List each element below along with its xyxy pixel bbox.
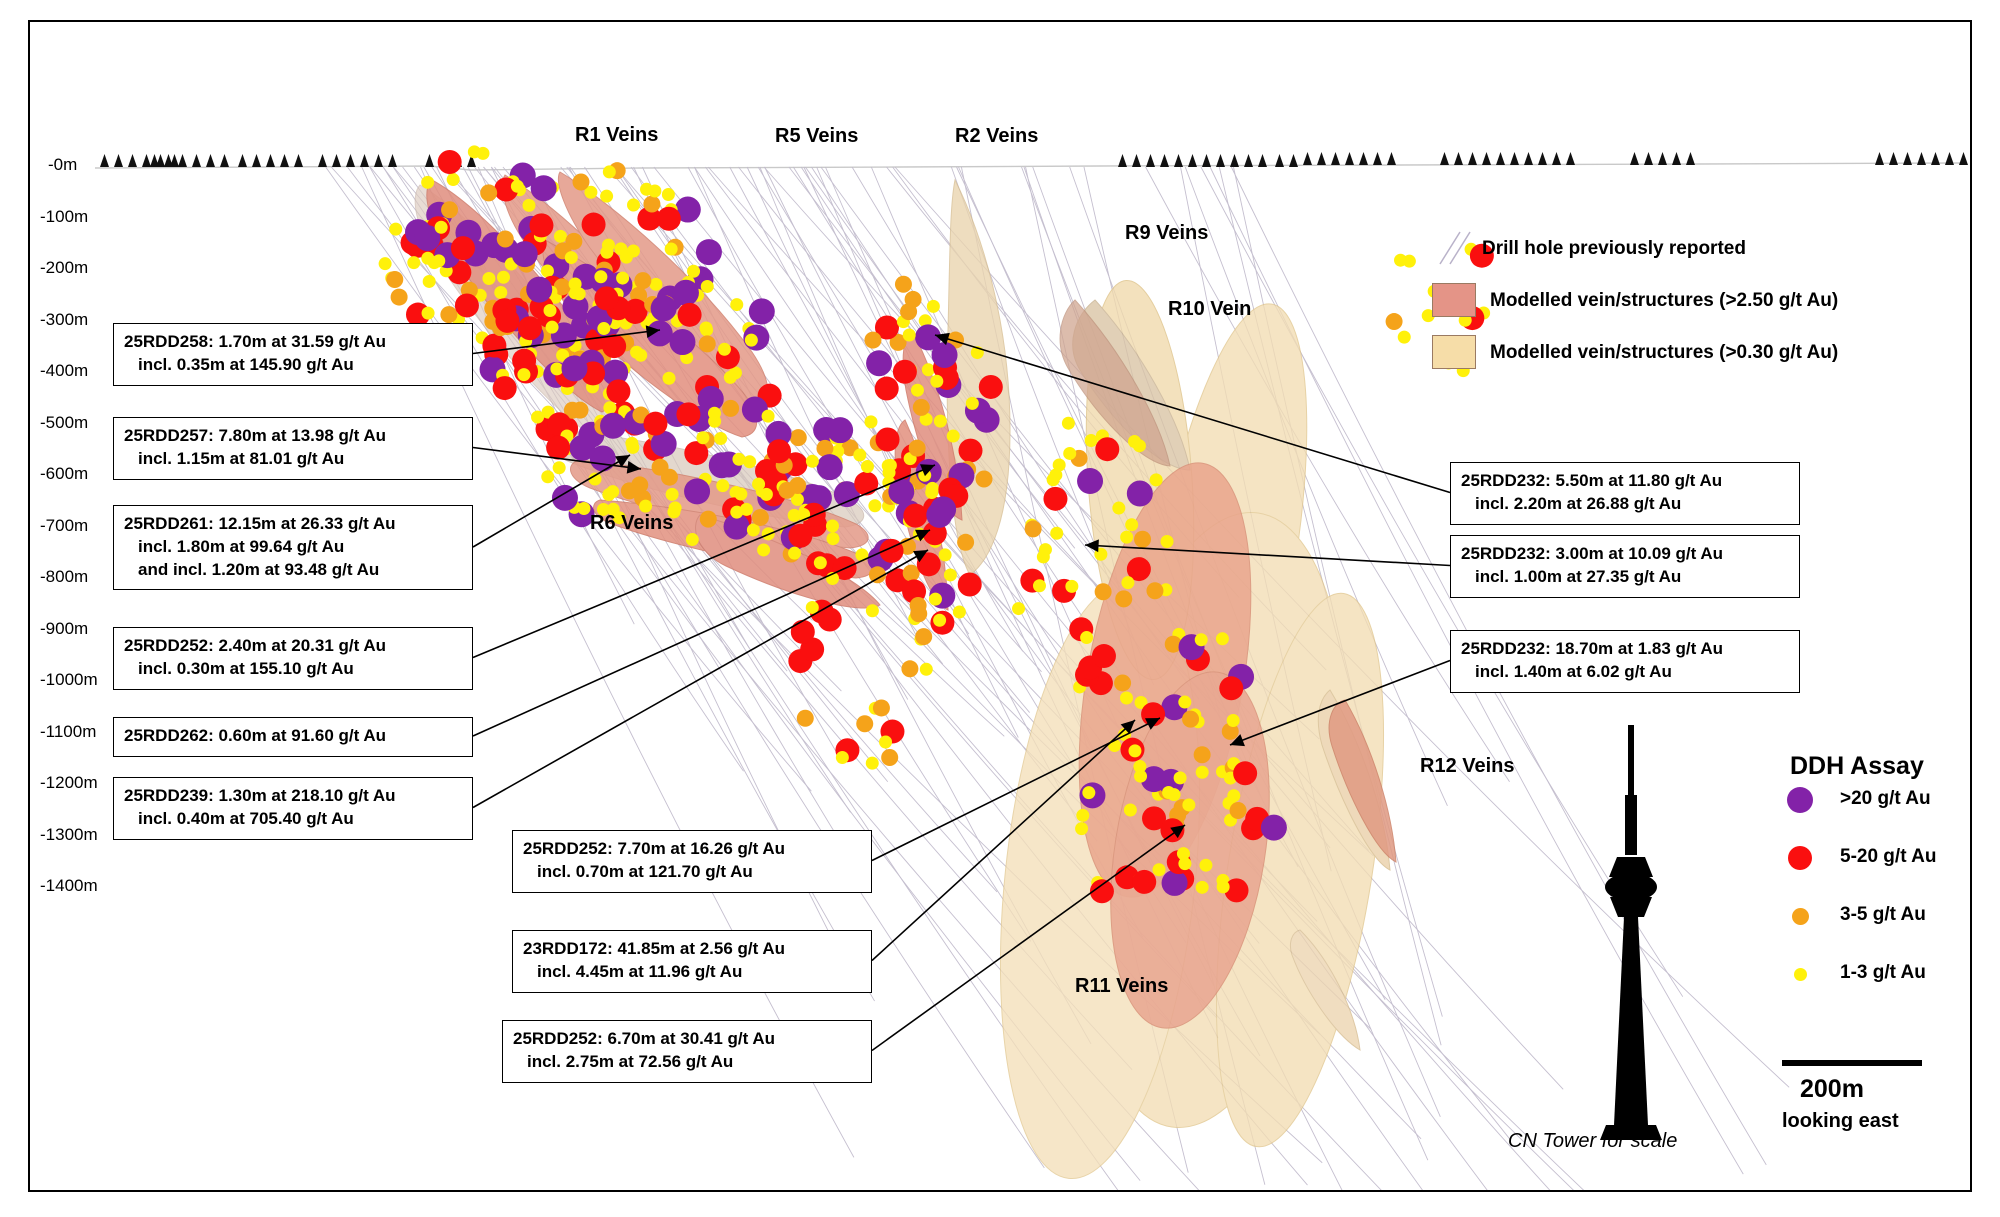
assay-dot bbox=[522, 199, 535, 212]
assay-dot bbox=[700, 321, 713, 334]
assay-dot bbox=[778, 482, 795, 499]
cross-section-figure: -0m-100m-200m-300m-400m-500m-600m-700m-8… bbox=[0, 0, 2000, 1217]
assay-dot bbox=[569, 277, 582, 290]
assay-dot bbox=[600, 190, 613, 203]
assay-dot bbox=[975, 470, 992, 487]
assay-dot bbox=[910, 605, 927, 622]
assay-dot bbox=[788, 524, 812, 548]
callout-line: 25RDD252: 2.40m at 20.31 g/t Au bbox=[124, 635, 462, 658]
vein-label: R9 Veins bbox=[1125, 222, 1208, 245]
assay-dot bbox=[966, 397, 979, 410]
assay-dot bbox=[767, 439, 791, 463]
assay-dot bbox=[482, 334, 506, 358]
assay-dot bbox=[901, 660, 918, 677]
geology-canvas bbox=[0, 0, 2000, 1217]
assay-dot bbox=[1133, 760, 1146, 773]
assay-dot bbox=[391, 289, 408, 306]
assay-dot bbox=[797, 710, 814, 727]
assay-dot bbox=[625, 437, 638, 450]
depth-tick-label: -1100m bbox=[40, 722, 96, 742]
assay-dot bbox=[740, 503, 753, 516]
assay-dot bbox=[422, 307, 435, 320]
drill-hole-legend-icon bbox=[1432, 228, 1478, 268]
tree-icon bbox=[252, 154, 261, 167]
assay-dot bbox=[447, 173, 460, 186]
tree-icon bbox=[220, 154, 229, 167]
assay-dot bbox=[546, 321, 559, 334]
assay-dot bbox=[1178, 696, 1191, 709]
assay-dot bbox=[561, 355, 587, 381]
assay-dot bbox=[662, 188, 675, 201]
assay-dot bbox=[903, 504, 927, 528]
assay-dot bbox=[666, 488, 679, 501]
assay-dot bbox=[652, 459, 669, 476]
assay-dot bbox=[665, 242, 678, 255]
assay-callout: 25RDD252: 7.70m at 16.26 g/t Auincl. 0.7… bbox=[512, 830, 872, 893]
depth-tick-label: -400m bbox=[40, 361, 88, 381]
callout-line: 25RDD258: 1.70m at 31.59 g/t Au bbox=[124, 331, 462, 354]
assay-dot bbox=[1233, 761, 1257, 785]
assay-dot bbox=[1386, 313, 1403, 330]
assay-dot bbox=[696, 431, 709, 444]
assay-dot bbox=[749, 298, 775, 324]
assay-legend-label: 1-3 g/t Au bbox=[1840, 962, 1926, 984]
assay-dot bbox=[546, 436, 570, 460]
assay-dot bbox=[541, 265, 554, 278]
assay-dot bbox=[687, 265, 700, 278]
tree-icon bbox=[1387, 152, 1396, 165]
assay-dot bbox=[669, 329, 695, 355]
assay-dot bbox=[1261, 815, 1287, 841]
legend-vein-low-label: Modelled vein/structures (>0.30 g/t Au) bbox=[1490, 342, 1838, 364]
tree-icon bbox=[1959, 152, 1968, 165]
callout-line: incl. 0.40m at 705.40 g/t Au bbox=[124, 808, 462, 831]
tree-icon bbox=[1510, 152, 1519, 165]
assay-dot bbox=[913, 399, 930, 416]
assay-callout: 25RDD261: 12.15m at 26.33 g/t Auincl. 1.… bbox=[113, 505, 473, 590]
assay-dot bbox=[752, 478, 765, 491]
assay-dot bbox=[1047, 473, 1060, 486]
tree-icon bbox=[1658, 152, 1667, 165]
ddh-assay-title: DDH Assay bbox=[1790, 752, 1924, 781]
tree-icon bbox=[100, 154, 109, 167]
assay-dot bbox=[616, 272, 629, 285]
tree-icon bbox=[1630, 152, 1639, 165]
depth-tick-label: -1400m bbox=[40, 876, 98, 896]
assay-dot bbox=[594, 286, 618, 310]
assay-dot bbox=[958, 572, 982, 596]
assay-dot bbox=[701, 280, 714, 293]
assay-dot bbox=[550, 362, 563, 375]
assay-dot bbox=[1217, 880, 1230, 893]
assay-dot bbox=[1063, 447, 1076, 460]
assay-dot bbox=[1039, 543, 1052, 556]
assay-dot bbox=[930, 375, 943, 388]
assay-dot bbox=[903, 329, 916, 342]
tree-icon bbox=[206, 154, 215, 167]
assay-dot bbox=[957, 534, 974, 551]
assay-dot bbox=[1053, 459, 1066, 472]
assay-dot bbox=[541, 470, 554, 483]
callout-line: 25RDD252: 7.70m at 16.26 g/t Au bbox=[523, 838, 861, 861]
assay-dot bbox=[1128, 744, 1141, 757]
depth-tick-label: -1200m bbox=[40, 773, 98, 793]
assay-dot bbox=[876, 427, 900, 451]
callout-line: incl. 0.35m at 145.90 g/t Au bbox=[124, 354, 462, 377]
assay-dot bbox=[512, 241, 538, 267]
callout-line: incl. 0.70m at 121.70 g/t Au bbox=[523, 861, 861, 884]
assay-dot bbox=[602, 488, 615, 501]
tree-icon bbox=[374, 154, 383, 167]
assay-dot bbox=[544, 304, 557, 317]
assay-dot bbox=[922, 363, 935, 376]
assay-dot bbox=[1062, 417, 1075, 430]
legend-swatch-high-grade bbox=[1432, 283, 1476, 317]
assay-dot bbox=[790, 429, 807, 446]
assay-dot bbox=[893, 360, 917, 384]
assay-dot bbox=[1125, 518, 1138, 531]
assay-dot bbox=[853, 449, 866, 462]
assay-dot bbox=[389, 223, 402, 236]
vein-label: R1 Veins bbox=[575, 124, 658, 147]
assay-legend-dot bbox=[1794, 968, 1807, 981]
assay-dot bbox=[565, 233, 582, 250]
assay-dot bbox=[1134, 531, 1151, 548]
assay-dot bbox=[1216, 632, 1229, 645]
tree-icon bbox=[1454, 152, 1463, 165]
callout-line: 25RDD232: 18.70m at 1.83 g/t Au bbox=[1461, 638, 1789, 661]
assay-dot bbox=[600, 246, 613, 259]
legend-drill-hole-label: Drill hole previously reported bbox=[1482, 238, 1746, 260]
assay-callout: 25RDD239: 1.30m at 218.10 g/t Auincl. 0.… bbox=[113, 777, 473, 840]
assay-dot bbox=[836, 751, 849, 764]
assay-dot bbox=[722, 400, 739, 417]
tree-icon bbox=[1917, 152, 1926, 165]
assay-dot bbox=[895, 276, 912, 293]
assay-dot bbox=[553, 461, 566, 474]
cn-tower-caption: CN Tower for scale bbox=[1508, 1130, 1677, 1153]
assay-dot bbox=[1114, 674, 1131, 691]
assay-legend-label: 5-20 g/t Au bbox=[1840, 846, 1936, 868]
depth-tick-label: -700m bbox=[40, 516, 88, 536]
assay-dot bbox=[597, 322, 610, 335]
assay-dot bbox=[817, 454, 843, 480]
assay-dot bbox=[493, 376, 517, 400]
tree-icon bbox=[1889, 152, 1898, 165]
assay-dot bbox=[814, 556, 827, 569]
assay-dot bbox=[1115, 590, 1132, 607]
assay-dot bbox=[1050, 527, 1063, 540]
assay-dot bbox=[565, 251, 578, 264]
assay-dot bbox=[602, 334, 626, 358]
assay-dot bbox=[1194, 746, 1211, 763]
tree-icon bbox=[1359, 152, 1368, 165]
assay-dot bbox=[699, 335, 716, 352]
legend-vein-high-label: Modelled vein/structures (>2.50 g/t Au) bbox=[1490, 290, 1838, 312]
assay-dot bbox=[696, 239, 722, 265]
assay-dot bbox=[1121, 576, 1134, 589]
assay-legend-label: >20 g/t Au bbox=[1840, 788, 1931, 810]
assay-dot bbox=[1095, 583, 1112, 600]
callout-line: incl. 1.40m at 6.02 g/t Au bbox=[1461, 661, 1789, 684]
assay-dot bbox=[875, 377, 899, 401]
vein-label: R6 Veins bbox=[590, 512, 673, 535]
vein-label: R5 Veins bbox=[775, 125, 858, 148]
assay-dot bbox=[643, 196, 660, 213]
assay-dot bbox=[929, 593, 942, 606]
assay-dot bbox=[979, 375, 1003, 399]
callout-line: incl. 1.80m at 99.64 g/t Au bbox=[124, 536, 462, 559]
assay-dot bbox=[959, 439, 983, 463]
assay-dot bbox=[663, 372, 676, 385]
callout-line: incl. 1.00m at 27.35 g/t Au bbox=[1461, 566, 1789, 589]
assay-dot bbox=[752, 509, 769, 526]
assay-dot bbox=[1174, 771, 1187, 784]
assay-dot bbox=[603, 401, 616, 414]
tree-icon bbox=[1160, 154, 1169, 167]
tree-icon bbox=[128, 154, 137, 167]
assay-dot bbox=[526, 277, 552, 303]
assay-dot bbox=[603, 165, 616, 178]
assay-dot bbox=[947, 430, 960, 443]
assay-dot bbox=[866, 604, 879, 617]
assay-dot bbox=[757, 543, 770, 556]
assay-dot bbox=[932, 342, 958, 368]
assay-dot bbox=[686, 533, 699, 546]
assay-legend-label: 3-5 g/t Au bbox=[1840, 904, 1926, 926]
assay-callout: 25RDD258: 1.70m at 31.59 g/t Auincl. 0.3… bbox=[113, 323, 473, 386]
tree-icon bbox=[332, 154, 341, 167]
assay-dot bbox=[1085, 434, 1098, 447]
tree-icon bbox=[1496, 152, 1505, 165]
assay-dot bbox=[1162, 870, 1188, 896]
assay-dot bbox=[915, 628, 932, 645]
callout-line: incl. 1.15m at 81.01 g/t Au bbox=[124, 448, 462, 471]
tree-icon bbox=[1202, 154, 1211, 167]
tree-icon bbox=[114, 154, 123, 167]
tree-icon bbox=[1931, 152, 1940, 165]
assay-dot bbox=[762, 410, 775, 423]
tree-icon bbox=[1230, 154, 1239, 167]
tree-icon bbox=[164, 154, 173, 167]
assay-dot bbox=[788, 547, 801, 560]
callout-line: 25RDD232: 3.00m at 10.09 g/t Au bbox=[1461, 543, 1789, 566]
tree-icon bbox=[1566, 152, 1575, 165]
callout-line: incl. 2.75m at 72.56 g/t Au bbox=[513, 1051, 861, 1074]
depth-tick-label: -1300m bbox=[40, 825, 98, 845]
depth-tick-label: -0m bbox=[48, 155, 77, 175]
assay-dot bbox=[440, 306, 457, 323]
tree-icon bbox=[1188, 154, 1197, 167]
tree-icon bbox=[1686, 152, 1695, 165]
tree-icon bbox=[1482, 152, 1491, 165]
assay-dot bbox=[1076, 809, 1089, 822]
tree-icon bbox=[294, 154, 303, 167]
assay-dot bbox=[718, 343, 731, 356]
callout-line: 25RDD239: 1.30m at 218.10 g/t Au bbox=[124, 785, 462, 808]
assay-dot bbox=[627, 244, 640, 257]
assay-dot bbox=[1227, 714, 1240, 727]
assay-dot bbox=[531, 175, 557, 201]
assay-dot bbox=[745, 334, 758, 347]
assay-dot bbox=[791, 620, 815, 644]
assay-dot bbox=[868, 499, 881, 512]
assay-dot bbox=[854, 472, 878, 496]
assay-dot bbox=[708, 407, 721, 420]
assay-dot bbox=[856, 715, 873, 732]
assay-dot bbox=[1227, 789, 1240, 802]
callout-line: 25RDD262: 0.60m at 91.60 g/t Au bbox=[124, 725, 462, 748]
assay-dot bbox=[1025, 520, 1042, 537]
assay-callout: 23RDD172: 41.85m at 2.56 g/t Auincl. 4.4… bbox=[512, 930, 872, 993]
assay-dot bbox=[407, 256, 420, 269]
tree-icon bbox=[178, 154, 187, 167]
depth-tick-label: -800m bbox=[40, 567, 88, 587]
assay-dot bbox=[435, 221, 448, 234]
assay-dot bbox=[438, 150, 462, 174]
assay-dot bbox=[1153, 863, 1166, 876]
tree-icon bbox=[150, 154, 159, 167]
tree-icon bbox=[1373, 152, 1382, 165]
assay-dot bbox=[577, 502, 590, 515]
assay-dot bbox=[1196, 881, 1209, 894]
assay-dot bbox=[866, 757, 879, 770]
assay-dot bbox=[497, 231, 514, 248]
assay-dot bbox=[432, 254, 445, 267]
callout-line: incl. 4.45m at 11.96 g/t Au bbox=[523, 961, 861, 984]
assay-dot bbox=[1177, 847, 1190, 860]
assay-dot bbox=[826, 532, 839, 545]
assay-dot bbox=[953, 605, 966, 618]
assay-dot bbox=[673, 280, 699, 306]
tree-icon bbox=[1468, 152, 1477, 165]
tree-icon bbox=[1875, 152, 1884, 165]
assay-dot bbox=[676, 402, 700, 426]
assay-dot bbox=[554, 230, 567, 243]
assay-callout: 25RDD252: 2.40m at 20.31 g/t Auincl. 0.3… bbox=[113, 627, 473, 690]
callout-line: and incl. 1.20m at 93.48 g/t Au bbox=[124, 559, 462, 582]
assay-dot bbox=[939, 548, 952, 561]
assay-callout: 25RDD262: 0.60m at 91.60 g/t Au bbox=[113, 717, 473, 757]
callout-line: 25RDD261: 12.15m at 26.33 g/t Au bbox=[124, 513, 462, 536]
tree-icon bbox=[280, 154, 289, 167]
assay-callout: 25RDD232: 18.70m at 1.83 g/t Auincl. 1.4… bbox=[1450, 630, 1800, 693]
assay-dot bbox=[582, 213, 606, 237]
assay-dot bbox=[495, 309, 519, 333]
tree-icon bbox=[1552, 152, 1561, 165]
callout-line: 25RDD257: 7.80m at 13.98 g/t Au bbox=[124, 425, 462, 448]
assay-dot bbox=[569, 435, 595, 461]
assay-dot bbox=[511, 180, 524, 193]
tree-icon bbox=[388, 154, 397, 167]
cn-tower-icon bbox=[1570, 725, 1700, 1155]
tree-icon bbox=[1524, 152, 1533, 165]
assay-dot bbox=[1120, 531, 1133, 544]
assay-dot bbox=[826, 519, 839, 532]
assay-dot bbox=[1127, 481, 1153, 507]
assay-dot bbox=[379, 257, 392, 270]
assay-dot bbox=[806, 455, 819, 468]
assay-dot bbox=[1162, 786, 1175, 799]
depth-tick-label: -600m bbox=[40, 464, 88, 484]
tree-icon bbox=[360, 154, 369, 167]
assay-dot bbox=[455, 293, 479, 317]
assay-dot bbox=[648, 184, 661, 197]
callout-leader-line bbox=[473, 550, 928, 808]
assay-dot bbox=[743, 455, 756, 468]
assay-dot bbox=[451, 236, 475, 260]
assay-dot bbox=[927, 300, 940, 313]
assay-dot bbox=[480, 184, 497, 201]
tree-icon bbox=[1244, 154, 1253, 167]
tree-icon bbox=[1331, 152, 1340, 165]
assay-legend-dot bbox=[1792, 908, 1809, 925]
scale-bar-line bbox=[1782, 1060, 1922, 1066]
tree-icon bbox=[318, 154, 327, 167]
assay-dot bbox=[883, 466, 896, 479]
depth-tick-label: -100m bbox=[40, 207, 88, 227]
vein-label: R11 Veins bbox=[1075, 975, 1168, 998]
assay-dot bbox=[734, 488, 747, 501]
scale-bar-orientation: looking east bbox=[1782, 1110, 1899, 1133]
depth-tick-label: -500m bbox=[40, 413, 88, 433]
assay-dot bbox=[1112, 502, 1125, 515]
assay-dot bbox=[909, 440, 926, 457]
assay-dot bbox=[1128, 435, 1141, 448]
tree-icon bbox=[1538, 152, 1547, 165]
tree-icon bbox=[1132, 154, 1141, 167]
assay-dot bbox=[621, 482, 638, 499]
assay-dot bbox=[594, 270, 607, 283]
assay-dot bbox=[944, 568, 957, 581]
assay-dot bbox=[879, 736, 892, 749]
assay-dot bbox=[497, 271, 510, 284]
assay-dot bbox=[476, 147, 489, 160]
assay-dot bbox=[934, 415, 947, 428]
tree-icon bbox=[1317, 152, 1326, 165]
callout-line: 25RDD252: 6.70m at 30.41 g/t Au bbox=[513, 1028, 861, 1051]
assay-callout: 25RDD257: 7.80m at 13.98 g/t Auincl. 1.1… bbox=[113, 417, 473, 480]
tree-icon bbox=[1440, 152, 1449, 165]
assay-dot bbox=[881, 749, 898, 766]
assay-dot bbox=[864, 415, 877, 428]
tree-icon bbox=[346, 154, 355, 167]
tree-icon bbox=[1275, 154, 1284, 167]
tree-icon bbox=[1216, 154, 1225, 167]
tree-icon bbox=[1174, 154, 1183, 167]
assay-dot bbox=[1230, 802, 1247, 819]
assay-dot bbox=[529, 213, 553, 237]
assay-dot bbox=[1132, 870, 1156, 894]
callout-line: 25RDD232: 5.50m at 11.80 g/t Au bbox=[1461, 470, 1789, 493]
assay-dot bbox=[423, 275, 436, 288]
assay-dot bbox=[600, 413, 626, 439]
tree-icon bbox=[142, 154, 151, 167]
assay-dot bbox=[1394, 254, 1407, 267]
vein-label: R12 Veins bbox=[1420, 755, 1515, 778]
assay-dot bbox=[861, 460, 874, 473]
assay-dot bbox=[627, 199, 640, 212]
assay-dot bbox=[421, 176, 434, 189]
assay-dot bbox=[639, 500, 652, 513]
assay-dot bbox=[651, 295, 677, 321]
assay-dot bbox=[1161, 535, 1174, 548]
assay-dot bbox=[518, 316, 542, 340]
tree-icon bbox=[425, 154, 434, 167]
assay-dot bbox=[1196, 766, 1209, 779]
assay-dot bbox=[1095, 437, 1119, 461]
assay-legend-dot bbox=[1788, 846, 1812, 870]
